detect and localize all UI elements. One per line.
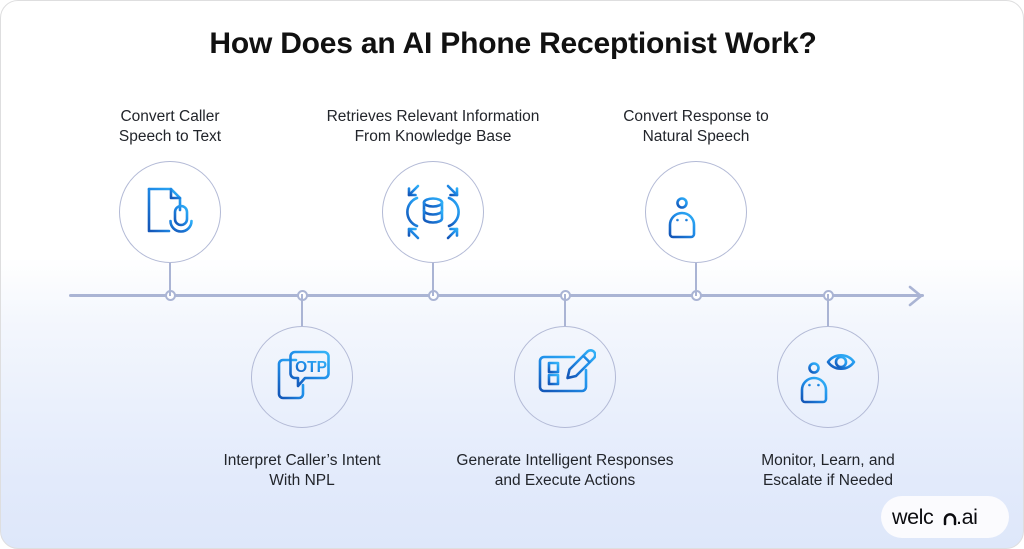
step-label-convert-speech-to-text: Convert Caller Speech to Text [20, 107, 320, 147]
step-label-monitor-learn-escalate: Monitor, Learn, and Escalate if Needed [678, 451, 978, 491]
step-icon-circle-generate-responses[interactable] [514, 326, 616, 428]
step-label-generate-responses: Generate Intelligent Responses and Execu… [415, 451, 715, 491]
step-icon-circle-retrieves-information[interactable] [382, 161, 484, 263]
connector-stem [301, 294, 303, 327]
brand-logo[interactable]: welc .ai [881, 496, 1009, 538]
connector-stem [432, 263, 434, 296]
database-expand-icon [401, 180, 465, 244]
connector-stem [169, 263, 171, 296]
connector-stem [827, 294, 829, 327]
page-title: How Does an AI Phone Receptionist Work? [1, 27, 1024, 61]
arrow-right-icon [906, 285, 928, 307]
infographic-card: How Does an AI Phone Receptionist Work? [0, 0, 1024, 549]
brand-logo-text: welc [892, 505, 934, 529]
connector-stem [564, 294, 566, 327]
document-microphone-icon [139, 181, 201, 243]
step-label-interpret-intent: Interpret Caller’s Intent With NPL [152, 451, 452, 491]
phone-otp-message-icon: OTP [270, 347, 334, 407]
step-icon-circle-convert-response-speech[interactable] [645, 161, 747, 263]
timeline-axis [69, 294, 924, 297]
step-icon-circle-interpret-intent[interactable]: OTP [251, 326, 353, 428]
brand-logo-text-suffix: .ai [956, 505, 978, 529]
connector-stem [695, 263, 697, 296]
monitor-pencil-icon [534, 347, 596, 407]
robot-soundwave-icon [664, 181, 728, 243]
otp-icon-text: OTP [295, 359, 327, 376]
robot-eye-icon [797, 347, 859, 407]
step-icon-circle-monitor-learn-escalate[interactable] [777, 326, 879, 428]
welco-ai-logo-icon: welc .ai [892, 503, 998, 531]
step-label-retrieves-information: Retrieves Relevant Information From Know… [283, 107, 583, 147]
step-label-convert-response-speech: Convert Response to Natural Speech [546, 107, 846, 147]
step-icon-circle-convert-speech-to-text[interactable] [119, 161, 221, 263]
